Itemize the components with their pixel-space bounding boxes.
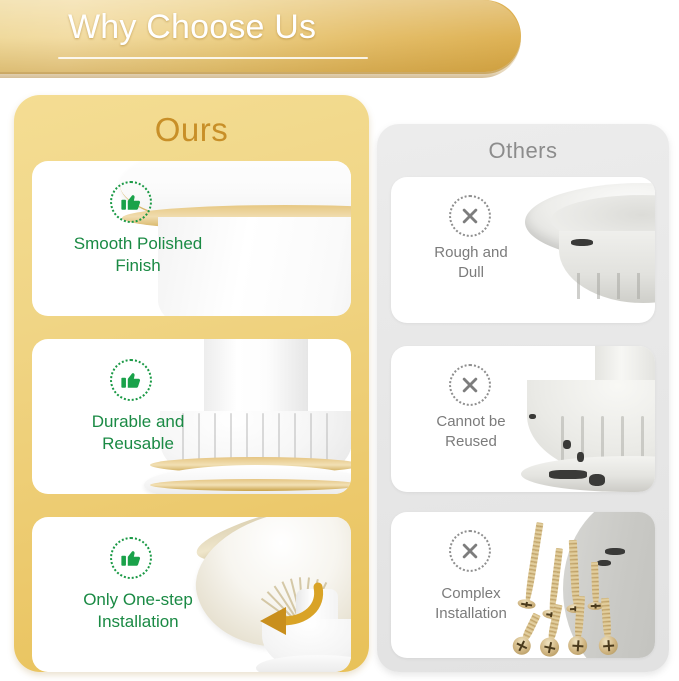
screw <box>569 596 589 657</box>
others-card-complex-installation: Complex Installation <box>391 512 655 658</box>
chip-mark <box>571 239 593 246</box>
ours-panel-heading: Ours <box>14 111 369 149</box>
pedestal-gold-ring-lower <box>150 479 351 491</box>
x-mark-icon <box>449 530 491 572</box>
ours-card-1-label: Smooth Polished Finish <box>38 233 238 277</box>
others-panel-heading: Others <box>377 138 669 164</box>
ours-card-3-label: Only One-step Installation <box>38 589 238 633</box>
others-card-rough-and-dull: Rough and Dull <box>391 177 655 323</box>
ours-card-durable-reusable: Durable and Reusable <box>32 339 351 494</box>
chip-mark <box>549 470 587 479</box>
others-card-1-label: Rough and Dull <box>395 243 547 282</box>
ours-card-smooth-polished-finish: Smooth Polished Finish <box>32 161 351 316</box>
title-underline <box>58 57 368 59</box>
page-title: Why Choose Us <box>68 8 316 47</box>
ours-card-one-step-installation: Only One-step Installation <box>32 517 351 672</box>
ours-card-2-label: Durable and Reusable <box>38 411 238 455</box>
twist-assembly-arrow-icon <box>252 581 328 639</box>
chip-mark <box>605 548 625 555</box>
base-foot-disc <box>256 655 351 672</box>
others-card-2-label: Cannot be Reused <box>395 412 547 451</box>
thumbs-up-icon <box>110 537 152 579</box>
ours-panel: Ours Smooth Polished Finish <box>14 95 369 672</box>
thumbs-up-icon <box>110 181 152 223</box>
worn-pedestal-base <box>521 456 655 492</box>
others-panel: Others <box>377 124 669 672</box>
chip-mark <box>577 452 584 462</box>
infographic-root: Why Choose Us Ours Smooth Polished Finis… <box>0 0 679 681</box>
chip-mark <box>589 474 605 486</box>
x-mark-icon <box>449 364 491 406</box>
others-card-cannot-be-reused: Cannot be Reused <box>391 346 655 492</box>
x-mark-icon <box>449 195 491 237</box>
others-card-3-label: Complex Installation <box>395 584 547 623</box>
thumbs-up-icon <box>110 359 152 401</box>
chip-mark <box>563 440 571 449</box>
